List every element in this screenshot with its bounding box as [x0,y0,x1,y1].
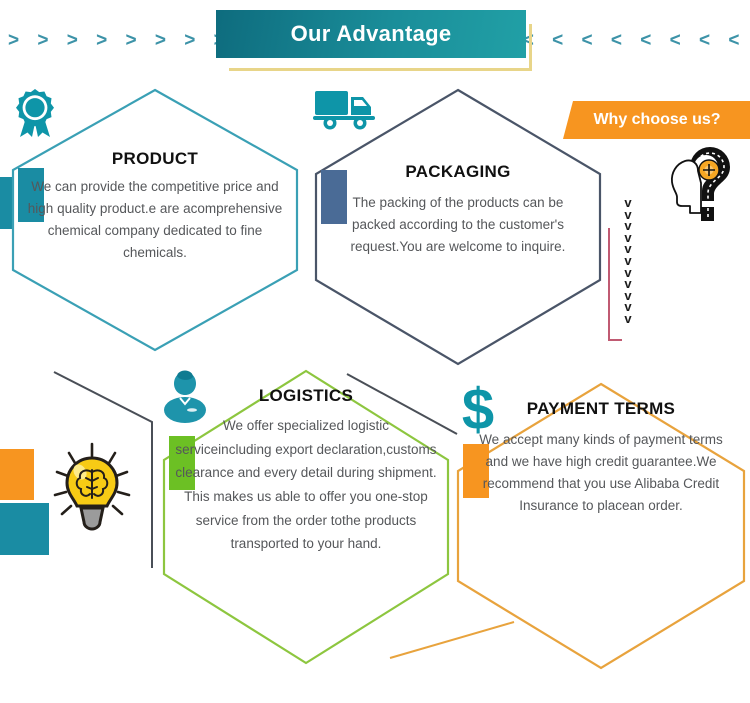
lightbulb-brain-icon [49,440,135,545]
pink-rule [608,228,610,340]
edge-square-orange [0,449,34,500]
card-text: The packing of the products can be packe… [329,192,587,258]
card-title: PRODUCT [112,149,198,169]
card-title: PACKAGING [405,162,510,182]
edge-square-teal-bottom [0,503,49,555]
infographic-canvas: > > > > > > > > > > > > > > < < < < < < … [0,0,750,703]
svg-text:$: $ [462,377,494,442]
card-title: LOGISTICS [259,386,353,406]
card-title: PAYMENT TERMS [527,399,675,419]
card-payment[interactable]: $ PAYMENT TERMS We accept many kinds of … [455,381,747,671]
card-text: We offer specialized logistic serviceinc… [175,414,437,556]
card-product[interactable]: PRODUCT We can provide the competitive p… [10,87,300,353]
vertical-chevron-glyph: v [621,313,635,325]
page-title: Our Advantage [291,21,452,47]
header-banner: Our Advantage [216,10,526,58]
card-packaging[interactable]: PACKAGING The packing of the products ca… [313,87,603,367]
vertical-chevrons: vvvvvvvvvvv [621,197,635,325]
why-choose-us-label: Why choose us? [593,111,720,129]
card-text: We can provide the competitive price and… [24,176,286,263]
head-question-mark-icon [668,139,744,230]
card-text: We accept many kinds of payment terms an… [470,429,732,516]
card-logistics[interactable]: LOGISTICS We offer specialized logistic … [161,368,451,666]
pink-rule-bottom [608,339,622,342]
